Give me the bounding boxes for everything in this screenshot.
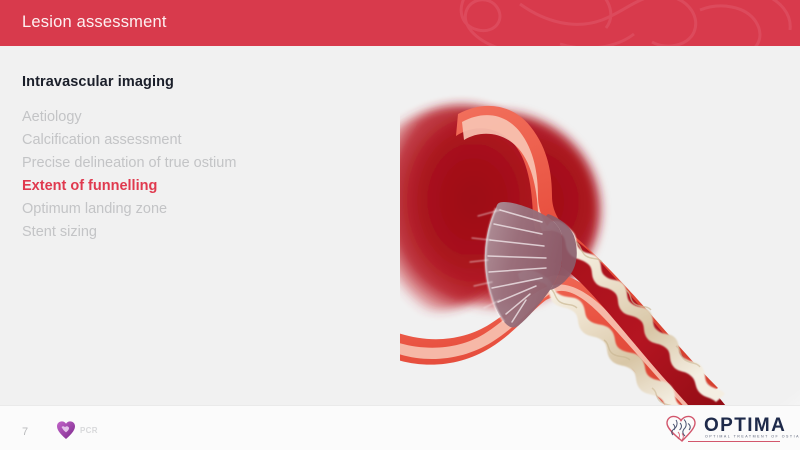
content-area: Intravascular imaging Aetiology Calcific… — [0, 46, 800, 405]
partner-logo-text: PCR — [80, 426, 98, 435]
brand-tagline: OPTIMAL TREATMENT OF OSTIAL LESIONS — [705, 434, 800, 438]
topic-item-label: Optimum landing zone — [22, 201, 167, 217]
brand-underline-rule — [688, 441, 780, 442]
partner-logo: PCR — [56, 419, 116, 441]
topic-list: Aetiology Calcification assessment Preci… — [22, 106, 402, 244]
topic-item-label: Calcification assessment — [22, 132, 182, 148]
topic-item-label: Precise delineation of true ostium — [22, 155, 236, 171]
topic-item-stent-sizing[interactable]: Stent sizing — [22, 221, 402, 244]
topic-item-precise-delineation-of-true-ostium[interactable]: Precise delineation of true ostium — [22, 152, 402, 175]
topic-item-label: Extent of funnelling — [22, 178, 157, 194]
header-bar: Lesion assessment — [0, 0, 800, 46]
footer-bar: 7 PCR — [0, 405, 800, 450]
page-title: Lesion assessment — [22, 13, 167, 32]
brand-wordmark: OPTIMA — [704, 416, 786, 436]
topic-item-extent-of-funnelling[interactable]: Extent of funnelling — [22, 175, 402, 198]
topic-item-label: Stent sizing — [22, 224, 97, 240]
topic-item-optimum-landing-zone[interactable]: Optimum landing zone — [22, 198, 402, 221]
topic-item-label: Aetiology — [22, 109, 82, 125]
section-heading: Intravascular imaging — [22, 74, 174, 90]
coronary-ostium-funnel-calcification-diagram — [400, 92, 800, 450]
purple-heart-shield-icon — [56, 420, 76, 440]
slide-root: Lesion assessment Intravascular imaging … — [0, 0, 800, 450]
anatomical-heart-icon — [664, 414, 700, 444]
topic-item-aetiology[interactable]: Aetiology — [22, 106, 402, 129]
page-number: 7 — [22, 426, 28, 438]
artery-illustration-svg — [400, 92, 800, 450]
optima-brand-logo: OPTIMA OPTIMAL TREATMENT OF OSTIAL LESIO… — [664, 414, 782, 446]
topic-item-calcification-assessment[interactable]: Calcification assessment — [22, 129, 402, 152]
